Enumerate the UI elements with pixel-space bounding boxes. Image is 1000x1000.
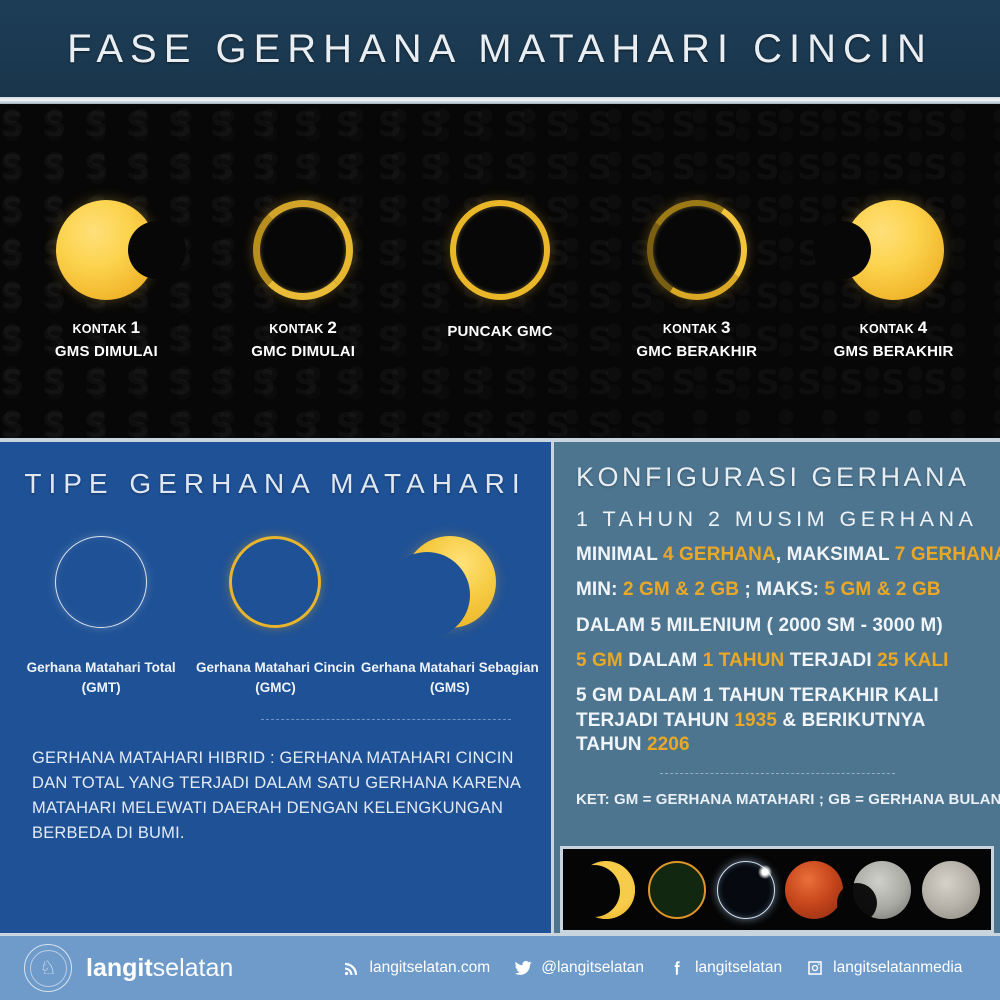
eclipse-types-panel: TIPE GERHANA MATAHARI Gerhana Matahari T… (0, 438, 554, 933)
highlighted-value: 1 TAHUN (703, 650, 790, 671)
photo-partial-solar-eclipse-crescent (574, 858, 638, 922)
highlighted-value: 5 GM (576, 650, 628, 671)
instagram-icon (805, 959, 824, 978)
photo-full-moon (922, 861, 980, 919)
header-bar: FASE GERHANA MATAHARI CINCIN (0, 0, 1000, 104)
social-label: langitselatan.com (370, 959, 491, 977)
phase-name-label: GMS BERAKHIR (834, 343, 954, 360)
highlighted-value: 2206 (647, 734, 690, 755)
phase-item-5: KONTAK 4 GMS BERAKHIR (804, 104, 984, 360)
footer-bar: ♘ langitselatan langitselatan.com @langi… (0, 933, 1000, 1000)
line-text: , MAKSIMAL (776, 544, 895, 565)
phase-name-label: GMC BERAKHIR (636, 343, 757, 360)
hybrid-eclipse-note: GERHANA MATAHARI HIBRID : GERHANA MATAHA… (32, 746, 521, 846)
facebook-icon (667, 959, 686, 978)
brand-name: langitselatan (86, 954, 233, 983)
configuration-lines: MINIMAL 4 GERHANA, MAKSIMAL 7 GERHANAMIN… (554, 543, 1000, 757)
highlighted-value: 7 GERHANA (895, 544, 1000, 565)
eclipse-type-gmc: Gerhana Matahari Cincin(GMC) (193, 536, 358, 697)
phase-name-label: GMS DIMULAI (55, 343, 158, 360)
legend-note: KET: GM = GERHANA MATAHARI ; GB = GERHAN… (554, 791, 1000, 808)
corona-ring-icon (55, 536, 147, 628)
phase-item-3: PUNCAK GMC (410, 104, 590, 340)
left-divider (261, 719, 511, 720)
social-link-twitter[interactable]: @langitselatan (513, 959, 644, 978)
line-text: MIN: (576, 579, 623, 600)
crescent-sun-icon (404, 536, 496, 628)
eclipse-type-label: Gerhana Matahari Cincin(GMC) (196, 658, 355, 697)
highlighted-value: 5 GM & 2 GB (824, 579, 940, 600)
eclipse-phases-section: SSSSSSSSSSSSSSSSSSSSSSSSSSSSSSSSSSSSSSSS… (0, 104, 1000, 438)
configuration-line: MIN: 2 GM & 2 GB ; MAKS: 5 GM & 2 GB (554, 578, 1000, 602)
phase-contact-label: KONTAK 3 (663, 318, 731, 338)
eclipse-type-gms: Gerhana Matahari Sebagian(GMS) (367, 536, 532, 697)
configuration-line: MINIMAL 4 GERHANA, MAKSIMAL 7 GERHANA (554, 543, 1000, 567)
configuration-line: DALAM 5 MILENIUM ( 2000 SM - 3000 M) (554, 614, 1000, 638)
phase-item-2: KONTAK 2 GMC DIMULAI (213, 104, 393, 360)
eclipse-type-label: Gerhana Matahari Total(GMT) (27, 658, 176, 697)
phase-contact-label: KONTAK 1 (72, 318, 140, 338)
social-label: langitselatan (695, 959, 782, 977)
page-title: FASE GERHANA MATAHARI CINCIN (0, 27, 1000, 72)
highlighted-value: 2 GM & 2 GB (623, 579, 739, 600)
rss-icon (342, 959, 361, 978)
social-link-instagram[interactable]: langitselatanmedia (805, 959, 962, 978)
langitselatan-logo-icon: ♘ (24, 944, 72, 992)
line-text: TERJADI (790, 650, 877, 671)
partial-sun-notch-right-icon (56, 200, 156, 300)
phase-item-1: KONTAK 1 GMS DIMULAI (16, 104, 196, 360)
eclipse-types-row: Gerhana Matahari Total(GMT) Gerhana Mata… (0, 536, 551, 697)
phase-name-label: PUNCAK GMC (447, 323, 552, 340)
phase-row: KONTAK 1 GMS DIMULAI KONTAK 2 GMC DIMULA… (0, 104, 1000, 438)
right-divider (660, 773, 895, 774)
social-link-facebook[interactable]: langitselatan (667, 959, 782, 978)
line-text: MINIMAL (576, 544, 663, 565)
infographic-page: FASE GERHANA MATAHARI CINCIN SSSSSSSSSSS… (0, 0, 1000, 1000)
highlighted-value: 1935 (734, 710, 777, 731)
highlighted-value: 25 KALI (877, 650, 948, 671)
social-links: langitselatan.com @langitselatan langits… (324, 959, 1000, 978)
photo-annular-solar-eclipse-disc (648, 861, 706, 919)
left-panel-title: TIPE GERHANA MATAHARI (0, 468, 551, 500)
configuration-line: 5 GM DALAM 1 TAHUN TERAKHIR KALI TERJADI… (554, 684, 1000, 757)
right-panel-title: KONFIGURASI GERHANA (554, 462, 1000, 493)
phase-item-4: KONTAK 3 GMC BERAKHIR (607, 104, 787, 360)
eclipse-photo-strip (560, 846, 994, 933)
right-panel-subtitle: 1 TAHUN 2 MUSIM GERHANA (554, 507, 1000, 532)
phase-name-label: GMC DIMULAI (251, 343, 355, 360)
social-label: langitselatanmedia (833, 959, 962, 977)
configuration-line: 5 GM DALAM 1 TAHUN TERJADI 25 KALI (554, 649, 1000, 673)
horse-rider-glyph: ♘ (39, 959, 56, 978)
line-text: DALAM (628, 650, 702, 671)
photo-partial-lunar-eclipse (853, 861, 911, 919)
gold-ring-icon (229, 536, 321, 628)
line-text: DALAM 5 MILENIUM ( 2000 SM - 3000 M) (576, 615, 943, 636)
photo-total-lunar-eclipse-blood-moon (785, 861, 843, 919)
eclipse-type-label: Gerhana Matahari Sebagian(GMS) (361, 658, 539, 697)
brand-block: ♘ langitselatan (24, 944, 324, 992)
phase-contact-label: KONTAK 2 (269, 318, 337, 338)
highlighted-value: 4 GERHANA (663, 544, 776, 565)
social-link-website[interactable]: langitselatan.com (342, 959, 491, 978)
line-text: ; MAKS: (739, 579, 824, 600)
annular-ring-max-icon (450, 200, 550, 300)
phase-contact-label: KONTAK 4 (860, 318, 928, 338)
annular-ring-icon (253, 200, 353, 300)
social-label: @langitselatan (541, 959, 644, 977)
annular-ring-breaking-icon (647, 200, 747, 300)
eclipse-type-gmt: Gerhana Matahari Total(GMT) (19, 536, 184, 697)
twitter-icon (513, 959, 532, 978)
photo-total-solar-eclipse-corona (717, 861, 775, 919)
partial-sun-notch-left-icon (844, 200, 944, 300)
